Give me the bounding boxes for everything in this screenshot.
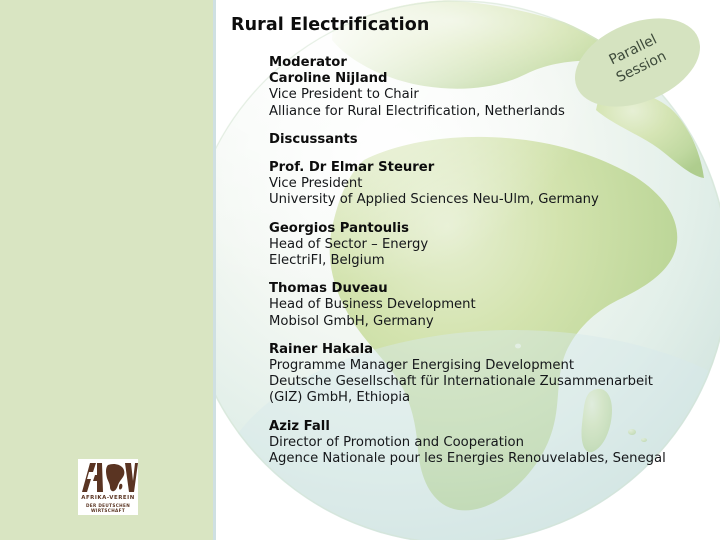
session-participants: Moderator Caroline Nijland Vice Presiden… [269, 55, 709, 467]
moderator-title: Vice President to Chair [269, 87, 709, 103]
logo-line-2: DER DEUTSCHEN WIRTSCHAFT [78, 503, 138, 513]
moderator-org: Alliance for Rural Electrification, Neth… [269, 104, 709, 120]
discussant-title: Head of Business Development [269, 297, 709, 313]
moderator-name: Caroline Nijland [269, 71, 709, 87]
discussants-label: Discussants [269, 132, 709, 148]
discussant-name: Rainer Hakala [269, 342, 709, 358]
discussant-title: Director of Promotion and Cooperation [269, 435, 709, 451]
discussant-item: Aziz Fall Director of Promotion and Coop… [269, 419, 709, 468]
sidebar-divider [213, 0, 216, 540]
discussant-org: Deutsche Gesellschaft für Internationale… [269, 374, 709, 390]
discussant-name: Prof. Dr Elmar Steurer [269, 160, 709, 176]
discussant-title: Head of Sector – Energy [269, 237, 709, 253]
discussant-org: Mobisol GmbH, Germany [269, 314, 709, 330]
discussant-name: Aziz Fall [269, 419, 709, 435]
page-title: Rural Electrification [231, 15, 429, 35]
discussant-name: Thomas Duveau [269, 281, 709, 297]
discussant-org: Agence Nationale pour les Energies Renou… [269, 451, 709, 467]
discussant-name: Georgios Pantoulis [269, 221, 709, 237]
moderator-block: Moderator Caroline Nijland Vice Presiden… [269, 55, 709, 120]
moderator-label: Moderator [269, 55, 709, 71]
logo-line-1: AFRIKA-VEREIN [78, 495, 138, 501]
discussant-item: Georgios Pantoulis Head of Sector – Ener… [269, 221, 709, 270]
discussant-item: Thomas Duveau Head of Business Developme… [269, 281, 709, 330]
discussant-org: University of Applied Sciences Neu-Ulm, … [269, 192, 709, 208]
discussant-org-cont: (GIZ) GmbH, Ethiopia [269, 390, 709, 406]
discussant-title: Programme Manager Energising Development [269, 358, 709, 374]
discussant-org: ElectriFI, Belgium [269, 253, 709, 269]
presentation-slide: Parallel Session Tuesday, May 5th 12:15 … [0, 0, 720, 540]
discussant-item: Rainer Hakala Programme Manager Energisi… [269, 342, 709, 407]
discussant-title: Vice President [269, 176, 709, 192]
afrika-verein-logo: AFRIKA-VEREIN DER DEUTSCHEN WIRTSCHAFT [78, 459, 138, 515]
logo-monogram-icon [78, 461, 138, 493]
discussant-item: Prof. Dr Elmar Steurer Vice President Un… [269, 160, 709, 209]
